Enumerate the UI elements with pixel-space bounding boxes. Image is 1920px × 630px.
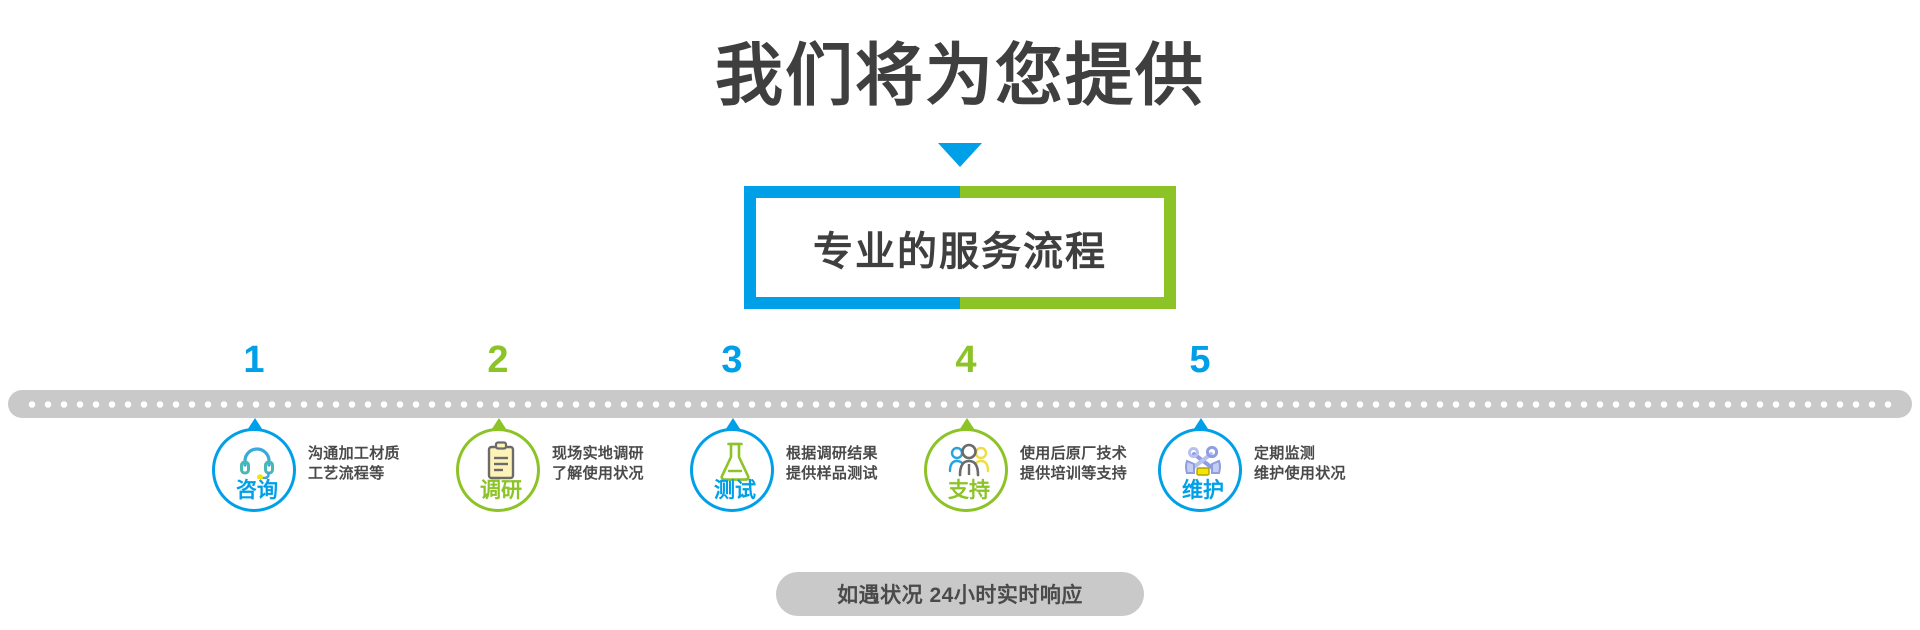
step-badge[interactable]: 调研 xyxy=(456,428,540,512)
step-description: 定期监测 维护使用状况 xyxy=(1254,444,1444,484)
timeline-dots xyxy=(24,401,1896,408)
step-badge[interactable]: 咨询 xyxy=(212,428,296,512)
step-badge-label: 维护 xyxy=(1161,480,1245,502)
response-badge: 如遇状况 24小时实时响应 xyxy=(776,572,1144,616)
banner-title: 专业的服务流程 xyxy=(744,186,1176,309)
step-number: 2 xyxy=(465,340,531,380)
step-number: 5 xyxy=(1167,340,1233,380)
step-badge[interactable]: 测试 xyxy=(690,428,774,512)
people-group-icon xyxy=(927,440,1011,482)
triangle-down-icon xyxy=(938,143,982,167)
clipboard-icon xyxy=(459,440,543,482)
service-process-infographic: 我们将为您提供 专业的服务流程 1 咨询 沟通加工材质 xyxy=(0,0,1920,630)
page-title: 我们将为您提供 xyxy=(0,38,1920,114)
step-number: 3 xyxy=(699,340,765,380)
step-desc-line-1: 定期监测 xyxy=(1254,444,1444,464)
step-badge[interactable]: 支持 xyxy=(924,428,1008,512)
step-badge-label: 测试 xyxy=(693,480,777,502)
wrench-in-hands-icon xyxy=(1161,440,1245,482)
step-desc-line-2: 维护使用状况 xyxy=(1254,464,1444,484)
step-badge-label: 咨询 xyxy=(215,480,299,502)
step-number: 4 xyxy=(933,340,999,380)
step-badge-label: 支持 xyxy=(927,480,1011,502)
step-badge[interactable]: 维护 xyxy=(1158,428,1242,512)
headset-icon xyxy=(215,440,299,482)
step-badge-label: 调研 xyxy=(459,480,543,502)
flask-icon xyxy=(693,440,777,482)
banner-box: 专业的服务流程 xyxy=(744,186,1176,309)
step-number: 1 xyxy=(221,340,287,380)
timeline-bar xyxy=(8,390,1912,418)
